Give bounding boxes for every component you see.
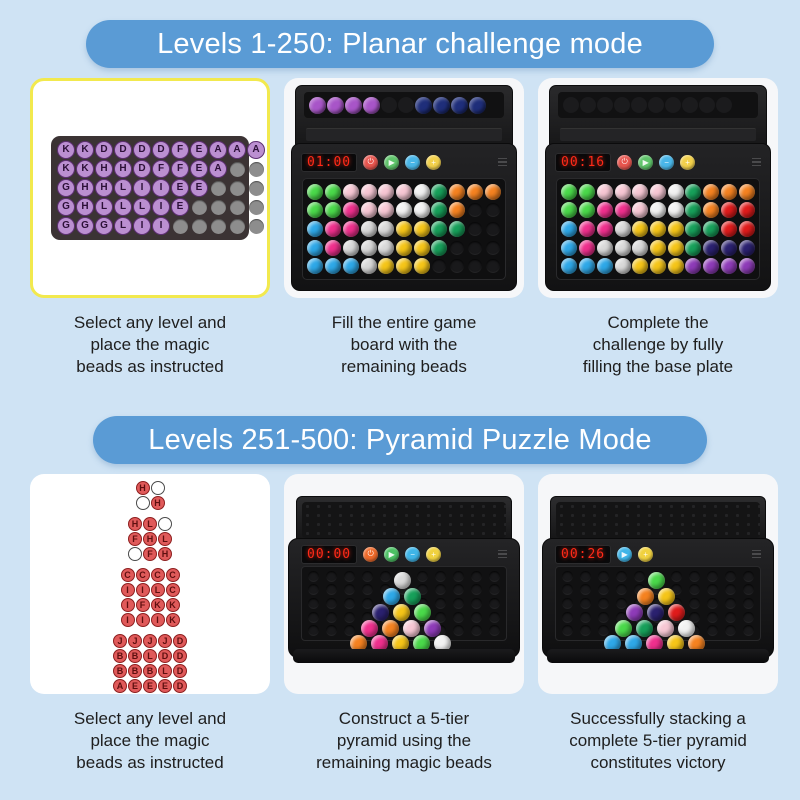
game-bead[interactable] bbox=[579, 258, 595, 274]
board-cell-empty[interactable] bbox=[359, 624, 376, 637]
plus-button[interactable]: + bbox=[680, 155, 695, 170]
game-bead[interactable] bbox=[307, 240, 323, 256]
game-bead[interactable] bbox=[343, 240, 359, 256]
pyramid-bead: D bbox=[173, 664, 187, 678]
game-bead[interactable] bbox=[668, 258, 684, 274]
game-bead[interactable] bbox=[431, 221, 447, 237]
game-bead[interactable] bbox=[396, 258, 412, 274]
game-bead[interactable] bbox=[307, 184, 323, 200]
board-cell-empty[interactable] bbox=[595, 570, 612, 583]
board-cell-empty[interactable] bbox=[668, 597, 685, 610]
empty-socket bbox=[192, 219, 207, 234]
solution-bead: G bbox=[57, 179, 75, 197]
timer-value: 00:16 bbox=[561, 156, 605, 169]
game-bead[interactable] bbox=[703, 184, 719, 200]
plus-button[interactable]: + bbox=[426, 547, 441, 562]
board-cell-empty[interactable] bbox=[450, 584, 467, 597]
game-bead[interactable] bbox=[597, 240, 613, 256]
board-cell-empty[interactable] bbox=[468, 611, 485, 624]
game-bead[interactable] bbox=[378, 258, 394, 274]
board-cell-empty[interactable] bbox=[468, 570, 485, 583]
board-cell-empty[interactable] bbox=[740, 570, 757, 583]
game-bead[interactable] bbox=[449, 221, 465, 237]
game-bead[interactable] bbox=[343, 221, 359, 237]
empty-socket[interactable] bbox=[486, 241, 500, 255]
empty-socket[interactable] bbox=[468, 222, 482, 236]
board-cell-empty[interactable] bbox=[305, 584, 322, 597]
game-bead[interactable] bbox=[739, 202, 755, 218]
board-cell-empty[interactable] bbox=[395, 570, 412, 583]
solution-bead-letter: D bbox=[95, 141, 113, 159]
game-bead[interactable] bbox=[343, 184, 359, 200]
game-bead[interactable] bbox=[597, 221, 613, 237]
game-bead[interactable] bbox=[668, 240, 684, 256]
board-cell-empty[interactable] bbox=[631, 570, 648, 583]
board-cell-empty[interactable] bbox=[722, 624, 739, 637]
spare-bead[interactable] bbox=[415, 97, 432, 114]
solution-empty-hole bbox=[247, 160, 265, 178]
game-bead[interactable] bbox=[396, 221, 412, 237]
game-bead[interactable] bbox=[668, 202, 684, 218]
board-cell-empty[interactable] bbox=[649, 611, 666, 624]
spare-bead[interactable] bbox=[451, 97, 468, 114]
board-cell-empty[interactable] bbox=[377, 584, 394, 597]
board-cell-empty[interactable] bbox=[341, 570, 358, 583]
game-bead[interactable] bbox=[361, 258, 377, 274]
board-cell-empty[interactable] bbox=[395, 611, 412, 624]
board-cell-empty[interactable] bbox=[468, 597, 485, 610]
board-cell-empty[interactable] bbox=[559, 570, 576, 583]
board-cell-empty[interactable] bbox=[432, 584, 449, 597]
board-cell-empty[interactable] bbox=[613, 611, 630, 624]
game-bead[interactable] bbox=[650, 258, 666, 274]
board-cell-empty[interactable] bbox=[577, 570, 594, 583]
empty-socket bbox=[211, 219, 226, 234]
board-cell-empty[interactable] bbox=[414, 584, 431, 597]
game-bead[interactable] bbox=[485, 184, 501, 200]
empty-socket[interactable] bbox=[468, 259, 482, 273]
board-cell-empty[interactable] bbox=[323, 570, 340, 583]
board-cell-empty[interactable] bbox=[305, 597, 322, 610]
board-cell-empty[interactable] bbox=[704, 584, 721, 597]
game-bead[interactable] bbox=[632, 240, 648, 256]
solution-bead: I bbox=[133, 179, 151, 197]
board-cell-filled bbox=[396, 220, 413, 238]
board-cell-empty[interactable] bbox=[359, 597, 376, 610]
game-bead[interactable] bbox=[579, 221, 595, 237]
game-bead[interactable] bbox=[431, 184, 447, 200]
game-bead[interactable] bbox=[361, 221, 377, 237]
play-pause-button[interactable]: ▶ bbox=[384, 547, 399, 562]
board-cell-empty[interactable] bbox=[577, 597, 594, 610]
board-cell-empty[interactable] bbox=[377, 611, 394, 624]
game-bead[interactable] bbox=[307, 202, 323, 218]
board-cell-empty[interactable] bbox=[668, 624, 685, 637]
board-cell-empty[interactable] bbox=[486, 584, 503, 597]
play-pause-button[interactable]: ▶ bbox=[384, 155, 399, 170]
game-bead[interactable] bbox=[561, 221, 577, 237]
board-cell-empty[interactable] bbox=[649, 597, 666, 610]
game-board-grid[interactable] bbox=[555, 566, 761, 641]
board-cell-empty[interactable] bbox=[323, 597, 340, 610]
game-bead[interactable] bbox=[615, 221, 631, 237]
empty-socket bbox=[326, 571, 337, 582]
game-bead[interactable] bbox=[361, 240, 377, 256]
device-base: 00:16 ⏻ ▶ − + bbox=[545, 143, 771, 291]
board-cell-empty[interactable] bbox=[486, 570, 503, 583]
board-cell-empty[interactable] bbox=[414, 570, 431, 583]
pyramid-bead: C bbox=[136, 568, 150, 582]
game-bead[interactable] bbox=[561, 202, 577, 218]
spare-bead[interactable] bbox=[309, 97, 326, 114]
board-cell-empty[interactable] bbox=[341, 584, 358, 597]
game-bead[interactable] bbox=[414, 258, 430, 274]
game-bead[interactable] bbox=[685, 184, 701, 200]
board-cell-empty[interactable] bbox=[649, 624, 666, 637]
board-cell-empty[interactable] bbox=[450, 624, 467, 637]
spare-bead[interactable] bbox=[469, 97, 486, 114]
board-cell-filled bbox=[614, 220, 631, 238]
pyramid-bead: L bbox=[151, 583, 165, 597]
game-bead[interactable] bbox=[632, 184, 648, 200]
board-cell-empty[interactable] bbox=[341, 624, 358, 637]
board-cell-empty[interactable] bbox=[577, 624, 594, 637]
pyramid-bead: L bbox=[158, 532, 172, 546]
board-cell-empty bbox=[484, 220, 501, 238]
board-cell-empty[interactable] bbox=[704, 570, 721, 583]
board-cell-empty[interactable] bbox=[359, 611, 376, 624]
game-bead[interactable] bbox=[325, 221, 341, 237]
empty-socket bbox=[435, 571, 446, 582]
game-bead[interactable] bbox=[414, 184, 430, 200]
board-cell-empty[interactable] bbox=[595, 597, 612, 610]
board-cell-empty[interactable] bbox=[595, 611, 612, 624]
board-cell-empty[interactable] bbox=[668, 570, 685, 583]
game-bead[interactable] bbox=[579, 240, 595, 256]
game-board-grid[interactable] bbox=[307, 183, 501, 275]
minus-button[interactable]: − bbox=[405, 155, 420, 170]
game-bead[interactable] bbox=[307, 221, 323, 237]
board-cell-empty[interactable] bbox=[722, 570, 739, 583]
empty-socket bbox=[562, 625, 573, 636]
board-cell-empty[interactable] bbox=[559, 611, 576, 624]
empty-socket[interactable] bbox=[450, 259, 464, 273]
power-button[interactable]: ⏻ bbox=[363, 155, 378, 170]
game-bead[interactable] bbox=[685, 258, 701, 274]
empty-socket bbox=[671, 625, 682, 636]
spare-bead[interactable] bbox=[433, 97, 450, 114]
board-cell-empty[interactable] bbox=[631, 611, 648, 624]
game-bead[interactable] bbox=[579, 202, 595, 218]
board-cell-empty[interactable] bbox=[414, 597, 431, 610]
game-bead[interactable] bbox=[396, 240, 412, 256]
board-cell-empty[interactable] bbox=[577, 611, 594, 624]
game-bead[interactable] bbox=[378, 184, 394, 200]
caption-line: Complete the bbox=[540, 312, 776, 334]
board-cell-empty[interactable] bbox=[595, 584, 612, 597]
empty-socket bbox=[707, 625, 718, 636]
board-cell-filled bbox=[307, 257, 324, 275]
board-cell-empty[interactable] bbox=[722, 597, 739, 610]
board-cell-filled bbox=[378, 257, 395, 275]
empty-socket bbox=[562, 584, 573, 595]
lid-empty-slot bbox=[614, 97, 630, 113]
game-bead[interactable] bbox=[721, 221, 737, 237]
game-bead[interactable] bbox=[615, 202, 631, 218]
plus-button[interactable]: + bbox=[426, 155, 441, 170]
board-cell-empty[interactable] bbox=[377, 597, 394, 610]
game-bead[interactable] bbox=[396, 184, 412, 200]
game-board-grid[interactable] bbox=[561, 183, 755, 275]
solution-bead-letter: L bbox=[114, 179, 132, 197]
game-bead[interactable] bbox=[721, 240, 737, 256]
board-cell-empty[interactable] bbox=[649, 584, 666, 597]
board-cell-empty[interactable] bbox=[486, 597, 503, 610]
game-bead[interactable] bbox=[668, 184, 684, 200]
board-cell-empty[interactable] bbox=[613, 570, 630, 583]
control-bar: 00:16 ⏻ ▶ − + bbox=[555, 151, 761, 173]
board-cell-empty[interactable] bbox=[395, 624, 412, 637]
empty-socket[interactable] bbox=[486, 203, 500, 217]
game-bead[interactable] bbox=[703, 202, 719, 218]
board-cell-empty[interactable] bbox=[486, 624, 503, 637]
board-cell-empty[interactable] bbox=[559, 624, 576, 637]
game-bead[interactable] bbox=[615, 240, 631, 256]
game-bead[interactable] bbox=[721, 202, 737, 218]
game-bead[interactable] bbox=[597, 258, 613, 274]
game-bead[interactable] bbox=[721, 258, 737, 274]
board-cell-empty[interactable] bbox=[395, 597, 412, 610]
board-cell-empty[interactable] bbox=[613, 597, 630, 610]
game-bead[interactable] bbox=[597, 202, 613, 218]
board-cell-empty[interactable] bbox=[414, 624, 431, 637]
board-cell-empty[interactable] bbox=[414, 611, 431, 624]
game-bead[interactable] bbox=[378, 202, 394, 218]
game-bead[interactable] bbox=[343, 258, 359, 274]
board-cell-empty[interactable] bbox=[359, 584, 376, 597]
planar-step-1-caption: Select any level and place the magic bea… bbox=[32, 312, 268, 377]
game-bead[interactable] bbox=[739, 221, 755, 237]
game-bead[interactable] bbox=[561, 240, 577, 256]
board-cell-empty[interactable] bbox=[450, 611, 467, 624]
empty-socket[interactable] bbox=[486, 222, 500, 236]
game-bead[interactable] bbox=[650, 184, 666, 200]
board-cell-empty[interactable] bbox=[377, 624, 394, 637]
board-cell-empty[interactable] bbox=[613, 584, 630, 597]
game-bead[interactable] bbox=[414, 221, 430, 237]
game-board-grid[interactable] bbox=[301, 566, 507, 641]
game-bead[interactable] bbox=[685, 240, 701, 256]
game-bead[interactable] bbox=[378, 240, 394, 256]
minus-button[interactable]: − bbox=[405, 547, 420, 562]
empty-socket[interactable] bbox=[468, 203, 482, 217]
board-cell-empty[interactable] bbox=[305, 624, 322, 637]
solution-bead: E bbox=[171, 179, 189, 197]
board-cell-empty[interactable] bbox=[323, 624, 340, 637]
board-cell-empty[interactable] bbox=[686, 597, 703, 610]
board-cell-empty[interactable] bbox=[450, 597, 467, 610]
board-cell-empty[interactable] bbox=[468, 624, 485, 637]
spare-bead[interactable] bbox=[363, 97, 380, 114]
game-bead[interactable] bbox=[650, 202, 666, 218]
empty-socket[interactable] bbox=[468, 241, 482, 255]
solution-bead: I bbox=[152, 179, 170, 197]
game-bead[interactable] bbox=[361, 184, 377, 200]
game-bead[interactable] bbox=[449, 202, 465, 218]
game-bead[interactable] bbox=[325, 240, 341, 256]
board-cell-empty[interactable] bbox=[704, 597, 721, 610]
lid-empty-slot bbox=[580, 97, 596, 113]
timer-display: 00:26 bbox=[555, 545, 611, 564]
game-bead[interactable] bbox=[632, 202, 648, 218]
speaker-grill-icon bbox=[498, 158, 507, 167]
board-cell-empty[interactable] bbox=[595, 624, 612, 637]
game-bead[interactable] bbox=[703, 221, 719, 237]
board-cell-empty[interactable] bbox=[668, 611, 685, 624]
game-bead[interactable] bbox=[325, 202, 341, 218]
solution-bead-letter: G bbox=[57, 179, 75, 197]
game-bead[interactable] bbox=[721, 184, 737, 200]
empty-socket bbox=[326, 584, 337, 595]
board-cell-empty[interactable] bbox=[740, 597, 757, 610]
board-cell-empty[interactable] bbox=[686, 624, 703, 637]
game-bead[interactable] bbox=[361, 202, 377, 218]
game-bead[interactable] bbox=[396, 202, 412, 218]
board-cell-filled bbox=[449, 183, 466, 201]
solution-bead: F bbox=[171, 141, 189, 159]
board-cell-empty[interactable] bbox=[613, 624, 630, 637]
game-bead[interactable] bbox=[650, 221, 666, 237]
board-cell-empty[interactable] bbox=[341, 611, 358, 624]
board-cell-empty[interactable] bbox=[686, 611, 703, 624]
board-cell-empty[interactable] bbox=[305, 611, 322, 624]
empty-socket[interactable] bbox=[432, 259, 446, 273]
power-button[interactable]: ⏻ bbox=[617, 155, 632, 170]
power-button[interactable]: ⏻ bbox=[363, 547, 378, 562]
board-cell-empty[interactable] bbox=[395, 584, 412, 597]
board-cell-empty[interactable] bbox=[377, 570, 394, 583]
board-cell-empty[interactable] bbox=[432, 570, 449, 583]
board-cell-empty[interactable] bbox=[740, 584, 757, 597]
board-cell-empty[interactable] bbox=[450, 570, 467, 583]
game-bead[interactable] bbox=[307, 258, 323, 274]
spare-bead[interactable] bbox=[327, 97, 344, 114]
pyramid-step-2-cell: 00:00 ⏻ ▶ − + Constr bbox=[284, 474, 524, 773]
board-cell-empty bbox=[467, 220, 484, 238]
caption-line: remaining beads bbox=[286, 356, 522, 378]
board-cell-empty[interactable] bbox=[704, 624, 721, 637]
game-bead[interactable] bbox=[632, 221, 648, 237]
empty-socket bbox=[453, 584, 464, 595]
game-bead[interactable] bbox=[467, 184, 483, 200]
board-cell-empty[interactable] bbox=[649, 570, 666, 583]
board-cell-empty[interactable] bbox=[686, 584, 703, 597]
game-bead[interactable] bbox=[561, 184, 577, 200]
board-cell-filled bbox=[596, 257, 613, 275]
game-bead[interactable] bbox=[615, 258, 631, 274]
board-cell-filled bbox=[632, 220, 649, 238]
game-bead[interactable] bbox=[414, 202, 430, 218]
game-bead[interactable] bbox=[325, 258, 341, 274]
lid-empty-slot bbox=[699, 97, 715, 113]
play-pause-button[interactable]: ▶ bbox=[638, 155, 653, 170]
pyramid-step-1-caption: Select any level and place the magic bea… bbox=[32, 708, 268, 773]
game-bead[interactable] bbox=[739, 240, 755, 256]
board-cell-empty[interactable] bbox=[432, 597, 449, 610]
board-cell-empty[interactable] bbox=[359, 570, 376, 583]
game-bead[interactable] bbox=[703, 240, 719, 256]
plus-button[interactable]: + bbox=[638, 547, 653, 562]
game-bead[interactable] bbox=[449, 184, 465, 200]
board-cell-empty[interactable] bbox=[631, 597, 648, 610]
board-cell-filled bbox=[449, 202, 466, 220]
board-cell-empty[interactable] bbox=[559, 584, 576, 597]
game-bead[interactable] bbox=[703, 258, 719, 274]
play-pause-button[interactable]: ▶ bbox=[617, 547, 632, 562]
game-bead[interactable] bbox=[431, 240, 447, 256]
game-bead[interactable] bbox=[739, 184, 755, 200]
board-cell-empty[interactable] bbox=[341, 597, 358, 610]
board-cell-empty[interactable] bbox=[305, 570, 322, 583]
board-cell-empty[interactable] bbox=[631, 584, 648, 597]
empty-socket[interactable] bbox=[450, 241, 464, 255]
game-bead[interactable] bbox=[431, 202, 447, 218]
empty-socket bbox=[616, 598, 627, 609]
lid-socket-pattern bbox=[556, 502, 760, 538]
game-bead[interactable] bbox=[597, 184, 613, 200]
board-cell-empty[interactable] bbox=[631, 624, 648, 637]
board-cell-empty[interactable] bbox=[668, 584, 685, 597]
board-cell-empty[interactable] bbox=[740, 624, 757, 637]
empty-socket[interactable] bbox=[486, 259, 500, 273]
game-bead[interactable] bbox=[685, 221, 701, 237]
board-cell-empty[interactable] bbox=[704, 611, 721, 624]
game-bead[interactable] bbox=[668, 221, 684, 237]
game-bead[interactable] bbox=[378, 221, 394, 237]
board-cell-empty[interactable] bbox=[323, 611, 340, 624]
board-cell-empty[interactable] bbox=[740, 611, 757, 624]
game-bead[interactable] bbox=[343, 202, 359, 218]
game-bead[interactable] bbox=[615, 184, 631, 200]
board-cell-empty[interactable] bbox=[722, 611, 739, 624]
board-cell-empty[interactable] bbox=[686, 570, 703, 583]
game-bead[interactable] bbox=[739, 258, 755, 274]
board-cell-empty[interactable] bbox=[432, 611, 449, 624]
board-cell-empty[interactable] bbox=[486, 611, 503, 624]
spare-bead[interactable] bbox=[345, 97, 362, 114]
game-bead[interactable] bbox=[414, 240, 430, 256]
minus-button[interactable]: − bbox=[659, 155, 674, 170]
game-bead[interactable] bbox=[561, 258, 577, 274]
board-cell-empty[interactable] bbox=[559, 597, 576, 610]
board-cell-empty[interactable] bbox=[323, 584, 340, 597]
solution-bead-letter: L bbox=[114, 198, 132, 216]
empty-socket bbox=[173, 219, 188, 234]
board-cell-empty[interactable] bbox=[722, 584, 739, 597]
board-cell-empty[interactable] bbox=[468, 584, 485, 597]
game-bead[interactable] bbox=[685, 202, 701, 218]
pyramid-layer-row: JJJJD bbox=[113, 634, 187, 648]
board-cell-empty[interactable] bbox=[577, 584, 594, 597]
board-cell-empty[interactable] bbox=[432, 624, 449, 637]
game-bead[interactable] bbox=[325, 184, 341, 200]
game-bead[interactable] bbox=[650, 240, 666, 256]
game-bead[interactable] bbox=[579, 184, 595, 200]
solution-empty-hole bbox=[228, 160, 246, 178]
game-bead[interactable] bbox=[632, 258, 648, 274]
pyramid-bead: J bbox=[158, 634, 172, 648]
empty-socket bbox=[725, 584, 736, 595]
